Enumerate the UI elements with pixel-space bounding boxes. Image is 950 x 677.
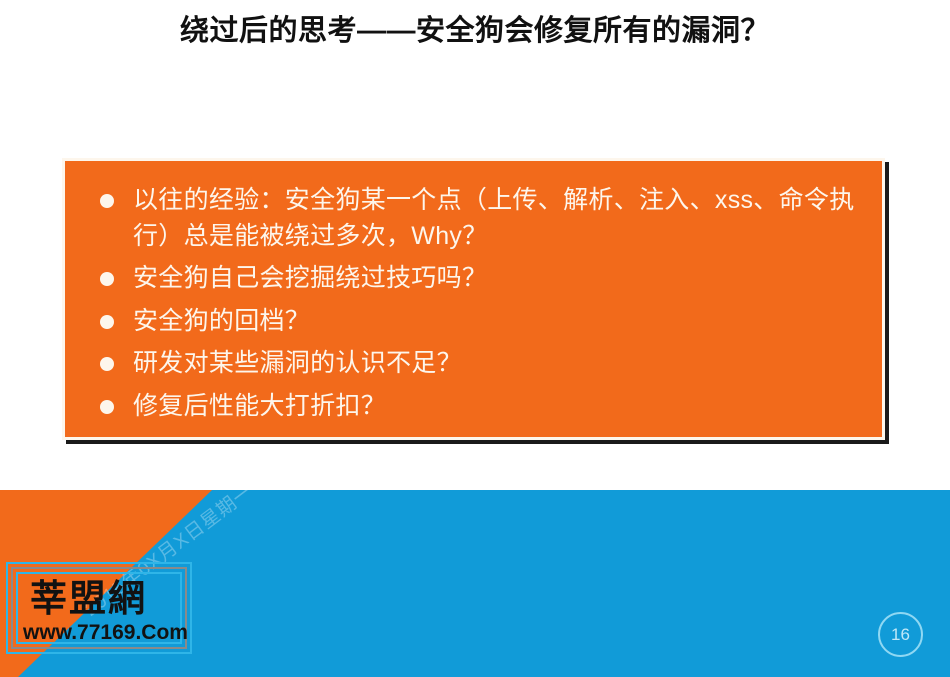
bullet-dot-icon <box>100 357 114 371</box>
content-panel: 以往的经验：安全狗某一个点（上传、解析、注入、xss、命令执行）总是能被绕过多次… <box>62 158 885 440</box>
list-item: 安全狗的回档？ <box>91 304 856 340</box>
bullet-dot-icon <box>100 400 114 414</box>
list-item-label: 以往的经验：安全狗某一个点（上传、解析、注入、xss、命令执行）总是能被绕过多次… <box>133 183 856 254</box>
list-item-label: 修复后性能大打折扣？ <box>133 389 856 425</box>
watermark-site-url: www.77169.Com <box>23 622 188 643</box>
list-item: 修复后性能大打折扣？ <box>91 389 856 425</box>
list-item-label: 安全狗的回档？ <box>133 304 856 340</box>
list-item: 研发对某些漏洞的认识不足？ <box>91 346 856 382</box>
list-item-label: 安全狗自己会挖掘绕过技巧吗？ <box>133 261 856 297</box>
watermark-site-name: 莘盟網 <box>30 580 147 617</box>
site-watermark: 莘盟網 www.77169.Com <box>6 562 192 654</box>
page-title: 绕过后的思考——安全狗会修复所有的漏洞？ <box>0 14 950 49</box>
bullet-list: 以往的经验：安全狗某一个点（上传、解析、注入、xss、命令执行）总是能被绕过多次… <box>91 183 856 424</box>
list-item: 安全狗自己会挖掘绕过技巧吗？ <box>91 261 856 297</box>
list-item: 以往的经验：安全狗某一个点（上传、解析、注入、xss、命令执行）总是能被绕过多次… <box>91 183 856 254</box>
bullet-dot-icon <box>100 194 114 208</box>
slide-canvas: 绕过后的思考——安全狗会修复所有的漏洞？ 以往的经验：安全狗某一个点（上传、解析… <box>0 0 950 677</box>
page-number-badge: 16 <box>878 612 923 657</box>
bullet-dot-icon <box>100 272 114 286</box>
bullet-dot-icon <box>100 315 114 329</box>
list-item-label: 研发对某些漏洞的认识不足？ <box>133 346 856 382</box>
